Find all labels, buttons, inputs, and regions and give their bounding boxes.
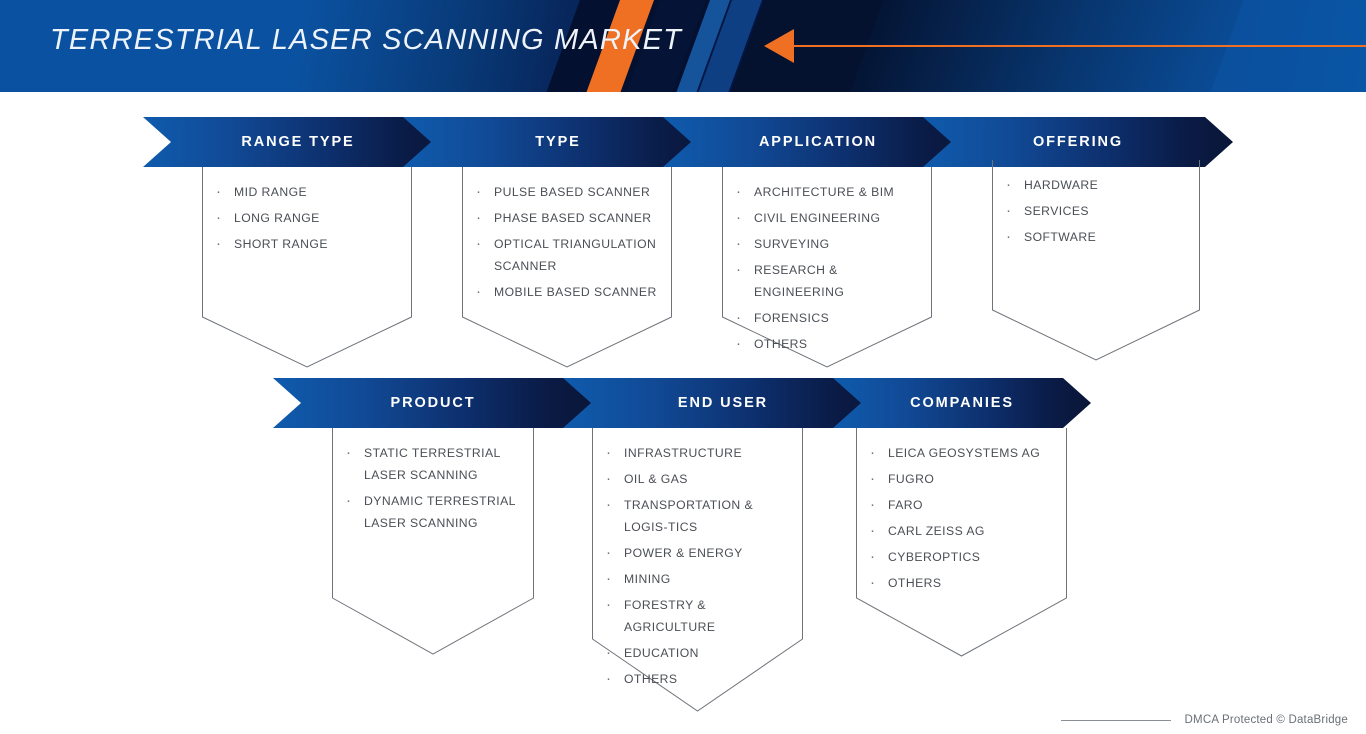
list-item[interactable]: ·POWER & ENERGY [606, 542, 798, 564]
bullet-icon: · [476, 181, 494, 203]
list-item-label: STATIC TERRESTRIAL LASER SCANNING [364, 442, 536, 486]
list-item[interactable]: ·SOFTWARE [1006, 226, 1192, 248]
section-card-product: ·STATIC TERRESTRIAL LASER SCANNING·DYNAM… [332, 428, 534, 654]
list-item-label: HARDWARE [1024, 174, 1098, 196]
section-banner-application[interactable]: APPLICATION [663, 117, 973, 167]
list-item[interactable]: ·FUGRO [870, 468, 1062, 490]
bullet-icon: · [606, 442, 624, 464]
list-item[interactable]: ·INFRASTRUCTURE [606, 442, 798, 464]
bullet-icon: · [870, 442, 888, 464]
section-banner-label: TYPE [535, 134, 580, 150]
list-item-label: ARCHITECTURE & BIM [754, 181, 894, 203]
bullet-icon: · [606, 468, 624, 490]
list-item-label: OPTICAL TRIANGULATION SCANNER [494, 233, 666, 277]
list-item-label: EDUCATION [624, 642, 699, 664]
list-item[interactable]: ·ARCHITECTURE & BIM [736, 181, 929, 203]
list-item[interactable]: ·PULSE BASED SCANNER [476, 181, 666, 203]
list-item-label: OTHERS [624, 668, 678, 690]
section-card-range-type: ·MID RANGE·LONG RANGE·SHORT RANGE [202, 167, 412, 367]
list-item[interactable]: ·LONG RANGE [216, 207, 404, 229]
bullet-icon: · [736, 307, 754, 329]
list-item-label: OTHERS [888, 572, 942, 594]
list-item[interactable]: ·OTHERS [606, 668, 798, 690]
list-item[interactable]: ·CARL ZEISS AG [870, 520, 1062, 542]
list-item-label: FUGRO [888, 468, 934, 490]
section-banner-label: COMPANIES [910, 395, 1014, 411]
bullet-icon: · [606, 668, 624, 690]
list-item-label: SURVEYING [754, 233, 830, 255]
section-card-application: ·ARCHITECTURE & BIM·CIVIL ENGINEERING·SU… [722, 167, 932, 367]
bullet-icon: · [736, 259, 754, 281]
list-item-label: PHASE BASED SCANNER [494, 207, 652, 229]
list-item-label: FORENSICS [754, 307, 829, 329]
list-item[interactable]: ·STATIC TERRESTRIAL LASER SCANNING [346, 442, 536, 486]
list-item[interactable]: ·RESEARCH & ENGINEERING [736, 259, 929, 303]
bullet-icon: · [870, 494, 888, 516]
page-title: TERRESTRIAL LASER SCANNING MARKET [50, 24, 682, 57]
bullet-icon: · [736, 181, 754, 203]
list-item-label: OTHERS [754, 333, 808, 355]
section-card-type: ·PULSE BASED SCANNER·PHASE BASED SCANNER… [462, 167, 672, 367]
list-item-label: LONG RANGE [234, 207, 320, 229]
list-item[interactable]: ·OPTICAL TRIANGULATION SCANNER [476, 233, 666, 277]
list-item-label: LEICA GEOSYSTEMS AG [888, 442, 1040, 464]
bullet-icon: · [606, 542, 624, 564]
list-item-label: CIVIL ENGINEERING [754, 207, 880, 229]
list-item-label: SERVICES [1024, 200, 1089, 222]
bullet-icon: · [216, 207, 234, 229]
bullet-icon: · [736, 333, 754, 355]
footer-divider [1061, 720, 1171, 721]
section-item-list: ·PULSE BASED SCANNER·PHASE BASED SCANNER… [462, 167, 674, 307]
bullet-icon: · [606, 594, 624, 616]
bullet-icon: · [606, 494, 624, 516]
list-item-label: OIL & GAS [624, 468, 688, 490]
bullet-icon: · [476, 233, 494, 255]
bullet-icon: · [870, 520, 888, 542]
bullet-icon: · [1006, 226, 1024, 248]
list-item-label: DYNAMIC TERRESTRIAL LASER SCANNING [364, 490, 536, 534]
header-accent-line [790, 45, 1366, 47]
section-item-list: ·INFRASTRUCTURE·OIL & GAS·TRANSPORTATION… [592, 428, 806, 694]
section-item-list: ·STATIC TERRESTRIAL LASER SCANNING·DYNAM… [332, 428, 544, 538]
bullet-icon: · [870, 546, 888, 568]
list-item-label: CARL ZEISS AG [888, 520, 985, 542]
list-item[interactable]: ·OTHERS [870, 572, 1062, 594]
list-item-label: MID RANGE [234, 181, 307, 203]
bullet-icon: · [606, 642, 624, 664]
list-item[interactable]: ·FORESTRY & AGRICULTURE [606, 594, 798, 638]
page-header: TERRESTRIAL LASER SCANNING MARKET [0, 0, 1366, 92]
footer-copyright: DMCA Protected © DataBridge [1185, 714, 1348, 726]
section-banner-companies[interactable]: COMPANIES [833, 378, 1091, 428]
list-item[interactable]: ·FARO [870, 494, 1062, 516]
list-item[interactable]: ·HARDWARE [1006, 174, 1192, 196]
list-item-label: MOBILE BASED SCANNER [494, 281, 657, 303]
footer: DMCA Protected © DataBridge [1061, 714, 1348, 726]
bullet-icon: · [216, 181, 234, 203]
bullet-icon: · [1006, 200, 1024, 222]
list-item[interactable]: ·FORENSICS [736, 307, 929, 329]
list-item-label: SOFTWARE [1024, 226, 1096, 248]
list-item[interactable]: ·SERVICES [1006, 200, 1192, 222]
list-item[interactable]: ·MID RANGE [216, 181, 404, 203]
section-banner-end-user[interactable]: END USER [563, 378, 883, 428]
section-card-offering: ·HARDWARE·SERVICES·SOFTWARE [992, 160, 1200, 360]
section-banner-product[interactable]: PRODUCT [273, 378, 593, 428]
bullet-icon: · [870, 572, 888, 594]
section-banner-label: PRODUCT [391, 395, 476, 411]
bullet-icon: · [1006, 174, 1024, 196]
list-item[interactable]: ·SURVEYING [736, 233, 929, 255]
list-item[interactable]: ·MINING [606, 568, 798, 590]
list-item-label: FORESTRY & AGRICULTURE [624, 594, 798, 638]
list-item-label: FARO [888, 494, 923, 516]
bullet-icon: · [346, 442, 364, 464]
section-banner-type[interactable]: TYPE [403, 117, 713, 167]
list-item[interactable]: ·CIVIL ENGINEERING [736, 207, 929, 229]
bullet-icon: · [476, 207, 494, 229]
bullet-icon: · [736, 207, 754, 229]
bullet-icon: · [606, 568, 624, 590]
list-item[interactable]: ·TRANSPORTATION & LOGIS-TICS [606, 494, 798, 538]
section-banner-label: RANGE TYPE [241, 134, 354, 150]
list-item-label: TRANSPORTATION & LOGIS-TICS [624, 494, 798, 538]
bullet-icon: · [476, 281, 494, 303]
section-banner-label: OFFERING [1033, 134, 1123, 150]
list-item-label: SHORT RANGE [234, 233, 328, 255]
list-item-label: INFRASTRUCTURE [624, 442, 742, 464]
list-item[interactable]: ·OTHERS [736, 333, 929, 355]
section-card-end-user: ·INFRASTRUCTURE·OIL & GAS·TRANSPORTATION… [592, 428, 803, 711]
bullet-icon: · [736, 233, 754, 255]
bullet-icon: · [870, 468, 888, 490]
section-banner-label: APPLICATION [759, 134, 877, 150]
list-item-label: POWER & ENERGY [624, 542, 743, 564]
section-item-list: ·HARDWARE·SERVICES·SOFTWARE [992, 160, 1200, 252]
list-item[interactable]: ·LEICA GEOSYSTEMS AG [870, 442, 1062, 464]
list-item-label: RESEARCH & ENGINEERING [754, 259, 929, 303]
list-item[interactable]: ·MOBILE BASED SCANNER [476, 281, 666, 303]
list-item-label: CYBEROPTICS [888, 546, 980, 568]
section-item-list: ·MID RANGE·LONG RANGE·SHORT RANGE [202, 167, 412, 259]
list-item[interactable]: ·DYNAMIC TERRESTRIAL LASER SCANNING [346, 490, 536, 534]
list-item[interactable]: ·CYBEROPTICS [870, 546, 1062, 568]
section-banner-range-type[interactable]: RANGE TYPE [143, 117, 453, 167]
section-item-list: ·LEICA GEOSYSTEMS AG·FUGRO·FARO·CARL ZEI… [856, 428, 1070, 598]
list-item[interactable]: ·PHASE BASED SCANNER [476, 207, 666, 229]
bullet-icon: · [216, 233, 234, 255]
list-item-label: MINING [624, 568, 671, 590]
list-item[interactable]: ·OIL & GAS [606, 468, 798, 490]
section-banner-label: END USER [678, 395, 768, 411]
list-item-label: PULSE BASED SCANNER [494, 181, 650, 203]
section-item-list: ·ARCHITECTURE & BIM·CIVIL ENGINEERING·SU… [722, 167, 937, 359]
bullet-icon: · [346, 490, 364, 512]
list-item[interactable]: ·EDUCATION [606, 642, 798, 664]
section-card-companies: ·LEICA GEOSYSTEMS AG·FUGRO·FARO·CARL ZEI… [856, 428, 1067, 656]
list-item[interactable]: ·SHORT RANGE [216, 233, 404, 255]
